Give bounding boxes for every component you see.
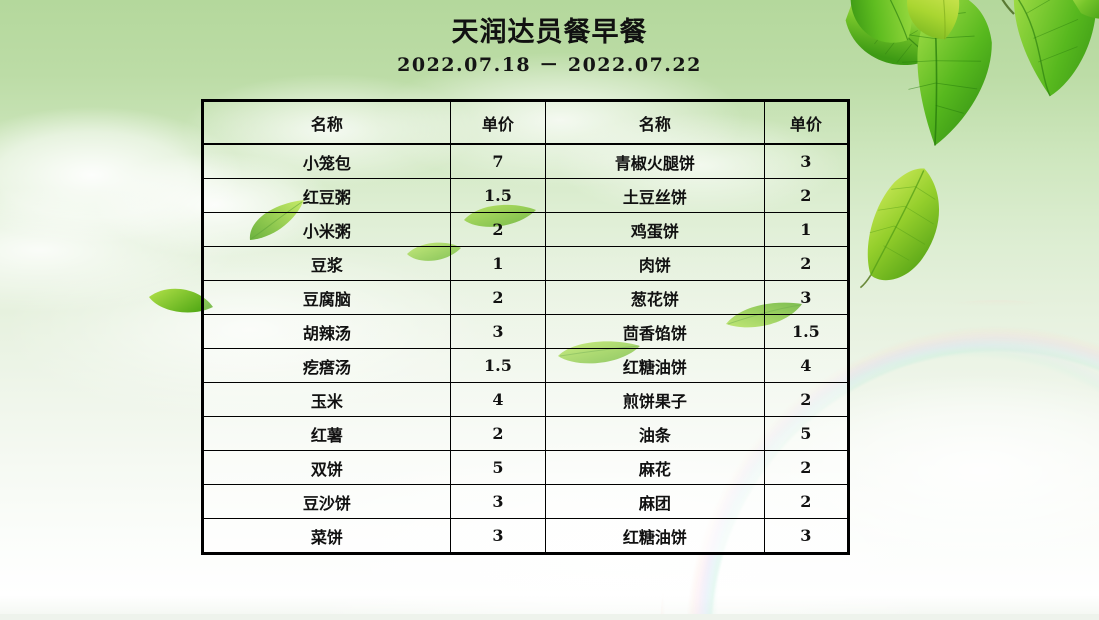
table-row: 豆腐脑2葱花饼3 (203, 281, 849, 315)
column-header-name-right: 名称 (546, 101, 765, 145)
menu-item-price-right: 2 (764, 451, 848, 485)
menu-item-name-left: 豆沙饼 (203, 485, 451, 519)
table-row: 疙瘩汤1.5红糖油饼4 (203, 349, 849, 383)
menu-item-name-right: 红糖油饼 (546, 519, 765, 554)
menu-item-price-right: 2 (764, 485, 848, 519)
menu-item-name-left: 豆浆 (203, 247, 451, 281)
menu-item-name-right: 茴香馅饼 (546, 315, 765, 349)
menu-item-name-right: 土豆丝饼 (546, 179, 765, 213)
menu-item-name-right: 肉饼 (546, 247, 765, 281)
menu-item-price-left: 3 (450, 315, 545, 349)
menu-item-name-right: 麻团 (546, 485, 765, 519)
menu-item-price-left: 2 (450, 213, 545, 247)
menu-item-name-left: 红豆粥 (203, 179, 451, 213)
menu-item-name-left: 胡辣汤 (203, 315, 451, 349)
page-title: 天润达员餐早餐 (0, 16, 1099, 50)
menu-item-price-left: 3 (450, 485, 545, 519)
column-header-price-right: 单价 (764, 101, 848, 145)
menu-item-name-left: 双饼 (203, 451, 451, 485)
table-row: 红薯2油条5 (203, 417, 849, 451)
menu-item-price-left: 5 (450, 451, 545, 485)
table-row: 菜饼3红糖油饼3 (203, 519, 849, 554)
menu-item-name-left: 小笼包 (203, 144, 451, 179)
table-row: 红豆粥1.5土豆丝饼2 (203, 179, 849, 213)
menu-item-price-left: 7 (450, 144, 545, 179)
menu-item-name-right: 葱花饼 (546, 281, 765, 315)
slide-header: 天润达员餐早餐 2022.07.18 － 2022.07.22 (0, 16, 1099, 78)
menu-item-price-left: 2 (450, 281, 545, 315)
bottom-edge-strip (0, 614, 1099, 620)
menu-item-price-right: 4 (764, 349, 848, 383)
menu-item-price-right: 1 (764, 213, 848, 247)
table-row: 豆浆1肉饼2 (203, 247, 849, 281)
table-row: 玉米4煎饼果子2 (203, 383, 849, 417)
menu-item-name-left: 疙瘩汤 (203, 349, 451, 383)
menu-item-name-right: 油条 (546, 417, 765, 451)
menu-item-price-left: 4 (450, 383, 545, 417)
leaf-large-right-icon (878, 152, 988, 287)
menu-item-name-right: 煎饼果子 (546, 383, 765, 417)
column-header-price-left: 单价 (450, 101, 545, 145)
menu-item-price-right: 2 (764, 247, 848, 281)
column-header-name-left: 名称 (203, 101, 451, 145)
menu-item-name-left: 豆腐脑 (203, 281, 451, 315)
breakfast-menu-table: 名称 单价 名称 单价 小笼包7青椒火腿饼3红豆粥1.5土豆丝饼2小米粥2鸡蛋饼… (201, 99, 850, 555)
menu-item-price-right: 2 (764, 383, 848, 417)
menu-item-name-right: 红糖油饼 (546, 349, 765, 383)
menu-item-price-right: 1.5 (764, 315, 848, 349)
menu-item-price-right: 3 (764, 519, 848, 554)
table-body: 小笼包7青椒火腿饼3红豆粥1.5土豆丝饼2小米粥2鸡蛋饼1豆浆1肉饼2豆腐脑2葱… (203, 144, 849, 554)
menu-item-name-right: 麻花 (546, 451, 765, 485)
menu-item-price-right: 3 (764, 281, 848, 315)
menu-item-name-left: 红薯 (203, 417, 451, 451)
table-header: 名称 单价 名称 单价 (203, 101, 849, 145)
table-row: 小笼包7青椒火腿饼3 (203, 144, 849, 179)
menu-table-container: 名称 单价 名称 单价 小笼包7青椒火腿饼3红豆粥1.5土豆丝饼2小米粥2鸡蛋饼… (201, 99, 850, 555)
menu-item-price-left: 1.5 (450, 179, 545, 213)
slide-canvas: 天润达员餐早餐 2022.07.18 － 2022.07.22 名称 单价 名称… (0, 0, 1099, 620)
table-row: 小米粥2鸡蛋饼1 (203, 213, 849, 247)
menu-item-price-right: 3 (764, 144, 848, 179)
table-row: 双饼5麻花2 (203, 451, 849, 485)
menu-item-price-left: 1.5 (450, 349, 545, 383)
table-header-row: 名称 单价 名称 单价 (203, 101, 849, 145)
menu-item-price-left: 1 (450, 247, 545, 281)
menu-item-name-left: 玉米 (203, 383, 451, 417)
menu-item-price-left: 3 (450, 519, 545, 554)
menu-item-name-left: 小米粥 (203, 213, 451, 247)
table-row: 胡辣汤3茴香馅饼1.5 (203, 315, 849, 349)
menu-item-price-right: 5 (764, 417, 848, 451)
menu-item-price-right: 2 (764, 179, 848, 213)
date-range-subtitle: 2022.07.18 － 2022.07.22 (0, 52, 1099, 78)
menu-item-name-right: 青椒火腿饼 (546, 144, 765, 179)
menu-item-name-right: 鸡蛋饼 (546, 213, 765, 247)
menu-item-price-left: 2 (450, 417, 545, 451)
menu-item-name-left: 菜饼 (203, 519, 451, 554)
table-row: 豆沙饼3麻团2 (203, 485, 849, 519)
